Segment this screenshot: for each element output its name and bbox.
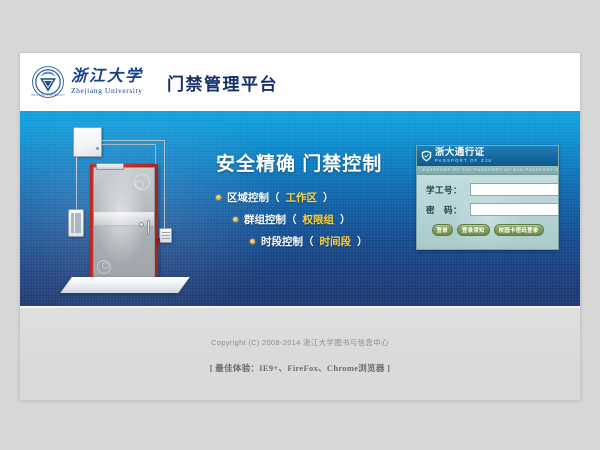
cable-controller-right-2	[102, 144, 155, 145]
slogan-block: 安全精确 门禁控制 区域控制（工作区） 群组控制（权限组） 时段控制（时间段）	[216, 149, 426, 256]
site-footer: Copyright (C) 2008-2014 浙江大学图书与信息中心 [ 最佳…	[20, 306, 580, 401]
login-buttons: 登录 登录须知 校园卡密码登录	[417, 223, 558, 236]
zju-seal-icon: ZHEJIANG UNIVERSITY	[31, 65, 65, 99]
door-closer-icon	[96, 163, 124, 170]
university-wordmark: 浙江大学 Zhejiang University	[71, 69, 143, 95]
feature-tail: ）	[340, 212, 351, 227]
door-hinge	[156, 238, 160, 245]
door-swirl	[135, 180, 144, 189]
form-row-userid: 学工号：	[426, 183, 549, 196]
wordmark-cn: 浙江大学	[71, 69, 143, 85]
login-panel-header: 浙大通行证 PASSPORT OF ZJU	[417, 146, 558, 166]
shield-icon	[421, 150, 432, 162]
login-header-text: 浙大通行证 PASSPORT OF ZJU	[435, 148, 493, 163]
feature-label: 区域控制（	[227, 190, 280, 205]
hero-banner: 安全精确 门禁控制 区域控制（工作区） 群组控制（权限组） 时段控制（时间段）	[20, 111, 580, 306]
security-door-icon	[90, 164, 158, 281]
bullet-dot-icon	[233, 217, 238, 222]
login-title-en: PASSPORT OF ZJU	[435, 159, 493, 163]
slogan-heading: 安全精确 门禁控制	[216, 149, 426, 176]
svg-text:ZHEJIANG UNIVERSITY: ZHEJIANG UNIVERSITY	[31, 94, 65, 97]
login-panel: 浙大通行证 PASSPORT OF ZJU PASSPORT OF ZJU PA…	[416, 145, 559, 250]
access-controller-box-icon	[73, 127, 102, 157]
campus-card-login-button[interactable]: 校园卡密码登录	[494, 224, 544, 236]
passport-strip: PASSPORT OF ZJU PASSPORT OF ZJU PASSPORT…	[417, 166, 558, 175]
door-panel	[93, 167, 155, 281]
door-band	[94, 212, 154, 226]
cable-to-keypad	[76, 157, 77, 209]
university-logo[interactable]: ZHEJIANG UNIVERSITY 浙江大学 Zhejiang Univer…	[31, 65, 143, 99]
feature-item-timeslot: 时段控制（时间段）	[216, 234, 426, 249]
login-notice-button[interactable]: 登录须知	[457, 224, 490, 236]
userid-label: 学工号：	[426, 184, 470, 196]
feature-label: 时段控制（	[261, 234, 314, 249]
login-title-cn: 浙大通行证	[435, 148, 493, 158]
feature-list: 区域控制（工作区） 群组控制（权限组） 时段控制（时间段）	[216, 190, 426, 249]
door-lock-icon	[139, 222, 144, 227]
feature-highlight: 工作区	[286, 190, 318, 205]
wordmark-en: Zhejiang University	[71, 87, 143, 95]
bullet-dot-icon	[216, 195, 221, 200]
bullet-dot-icon	[250, 239, 255, 244]
card-reader-icon	[159, 228, 172, 243]
door-keypad-icon	[68, 209, 84, 237]
door-handle-icon	[147, 220, 150, 235]
form-row-password: 密 码：	[426, 203, 549, 216]
site-header: ZHEJIANG UNIVERSITY 浙江大学 Zhejiang Univer…	[20, 53, 580, 111]
password-input[interactable]	[470, 203, 559, 216]
access-control-illustration	[54, 127, 194, 299]
feature-tail: ）	[323, 190, 334, 205]
page-card: ZHEJIANG UNIVERSITY 浙江大学 Zhejiang Univer…	[19, 52, 581, 401]
page-title: 门禁管理平台	[167, 70, 278, 95]
cable-controller-right	[102, 140, 164, 141]
login-button[interactable]: 登录	[432, 224, 453, 236]
browser-support-note: [ 最佳体验：IE9+、FireFox、Chrome浏览器 ]	[210, 362, 391, 374]
password-label: 密 码：	[426, 204, 470, 216]
login-form: 学工号： 密 码：	[417, 175, 558, 216]
feature-label: 群组控制（	[244, 212, 297, 227]
door-swirl	[102, 262, 109, 269]
keypad-grid	[71, 213, 81, 233]
feature-highlight: 时间段	[320, 234, 352, 249]
userid-input[interactable]	[470, 183, 559, 196]
passport-strip-text: PASSPORT OF ZJU PASSPORT OF ZJU PASSPORT…	[417, 168, 558, 172]
floor-platform	[60, 277, 190, 293]
cable-to-reader	[164, 140, 165, 228]
feature-tail: ）	[357, 234, 368, 249]
feature-item-area: 区域控制（工作区）	[216, 190, 426, 205]
feature-item-group: 群组控制（权限组）	[216, 212, 426, 227]
copyright-text: Copyright (C) 2008-2014 浙江大学图书与信息中心	[211, 337, 389, 348]
feature-highlight: 权限组	[303, 212, 335, 227]
